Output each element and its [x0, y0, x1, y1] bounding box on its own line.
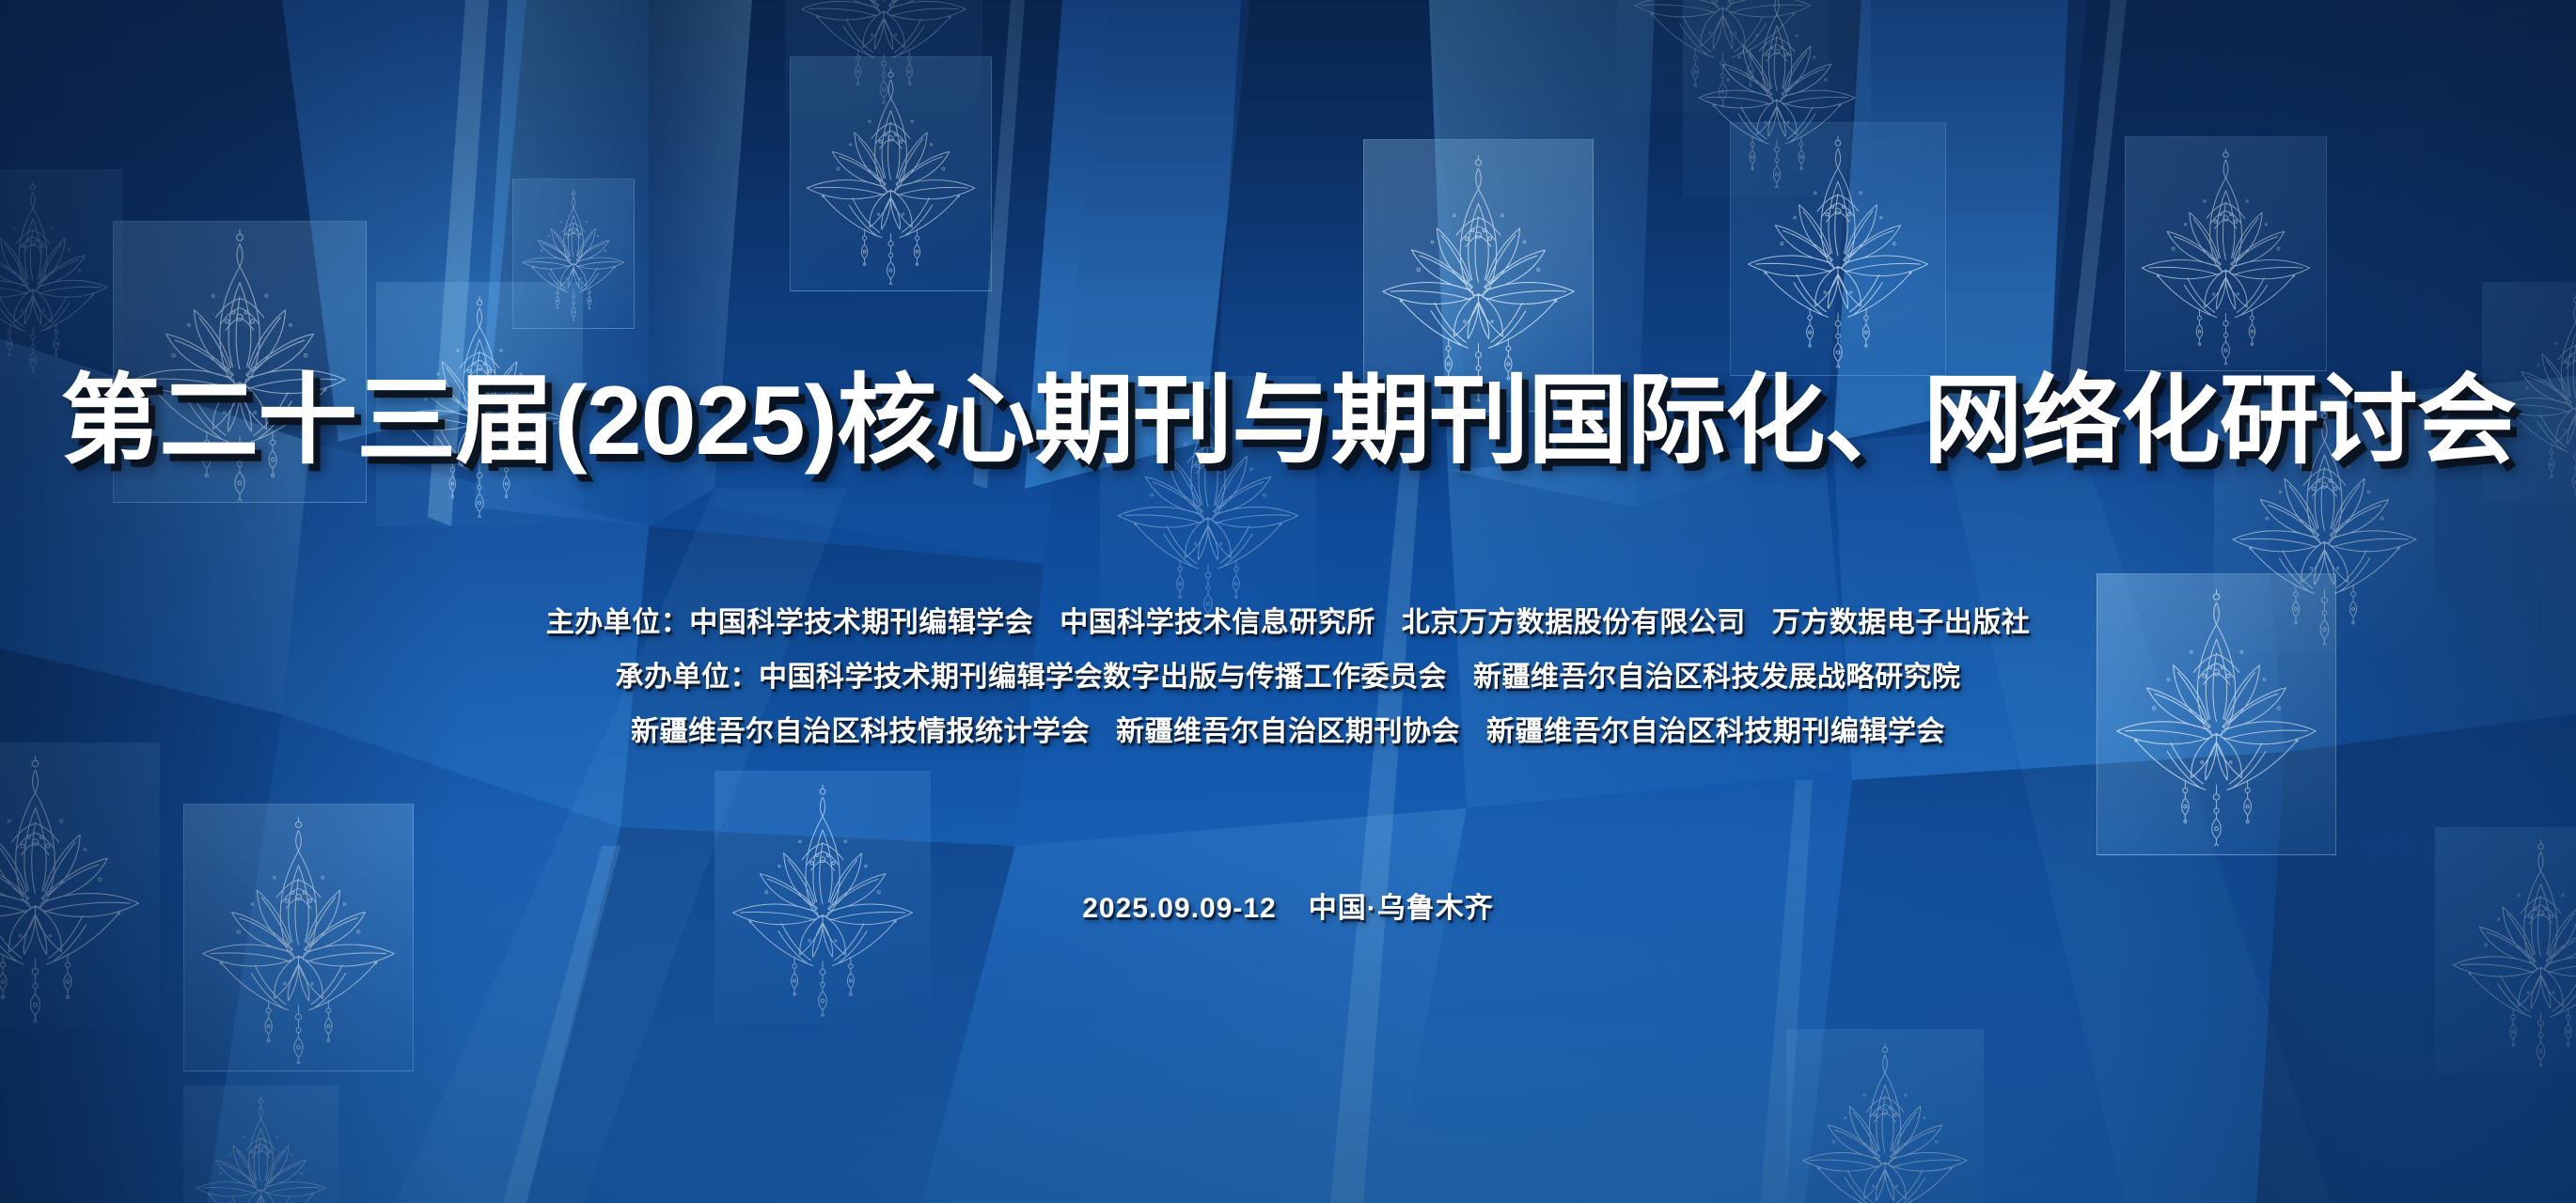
- page-title: 第二十三届(2025)核心期刊与期刊国际化、网络化研讨会: [0, 368, 2576, 474]
- event-location: 中国·乌鲁木齐: [1309, 893, 1494, 924]
- organizer-item-0: 中国科学技术期刊编辑学会数字出版与传播工作委员会: [759, 662, 1447, 693]
- event-date: 2025.09.09-12: [1082, 893, 1277, 924]
- conference-banner: 第二十三届(2025)核心期刊与期刊国际化、网络化研讨会 主办单位：中国科学技术…: [0, 0, 2576, 1203]
- organizer-item-1: 新疆维吾尔自治区科技发展战略研究院: [1473, 662, 1961, 693]
- host-item-1: 中国科学技术信息研究所: [1060, 607, 1375, 638]
- organizer-label: 承办单位：: [616, 662, 760, 693]
- host-label: 主办单位：: [546, 607, 690, 638]
- event-details: 2025.09.09-12中国·乌鲁木齐: [0, 884, 2576, 926]
- host-item-3: 万方数据电子出版社: [1772, 607, 2031, 638]
- organizer-item-3: 新疆维吾尔自治区期刊协会: [1116, 716, 1460, 747]
- organizer-item-2: 新疆维吾尔自治区科技情报统计学会: [631, 716, 1090, 747]
- background-vignette: [0, 0, 2576, 1203]
- host-item-0: 中国科学技术期刊编辑学会: [689, 607, 1033, 638]
- host-line: 主办单位：中国科学技术期刊编辑学会中国科学技术信息研究所北京万方数据股份有限公司…: [0, 609, 2576, 637]
- organizer-line-2: 新疆维吾尔自治区科技情报统计学会新疆维吾尔自治区期刊协会新疆维吾尔自治区科技期刊…: [0, 718, 2576, 746]
- organizer-item-4: 新疆维吾尔自治区科技期刊编辑学会: [1486, 716, 1945, 747]
- organizer-block: 主办单位：中国科学技术期刊编辑学会中国科学技术信息研究所北京万方数据股份有限公司…: [0, 609, 2576, 746]
- organizer-line-1: 承办单位：中国科学技术期刊编辑学会数字出版与传播工作委员会新疆维吾尔自治区科技发…: [0, 664, 2576, 692]
- host-item-2: 北京万方数据股份有限公司: [1402, 607, 1746, 638]
